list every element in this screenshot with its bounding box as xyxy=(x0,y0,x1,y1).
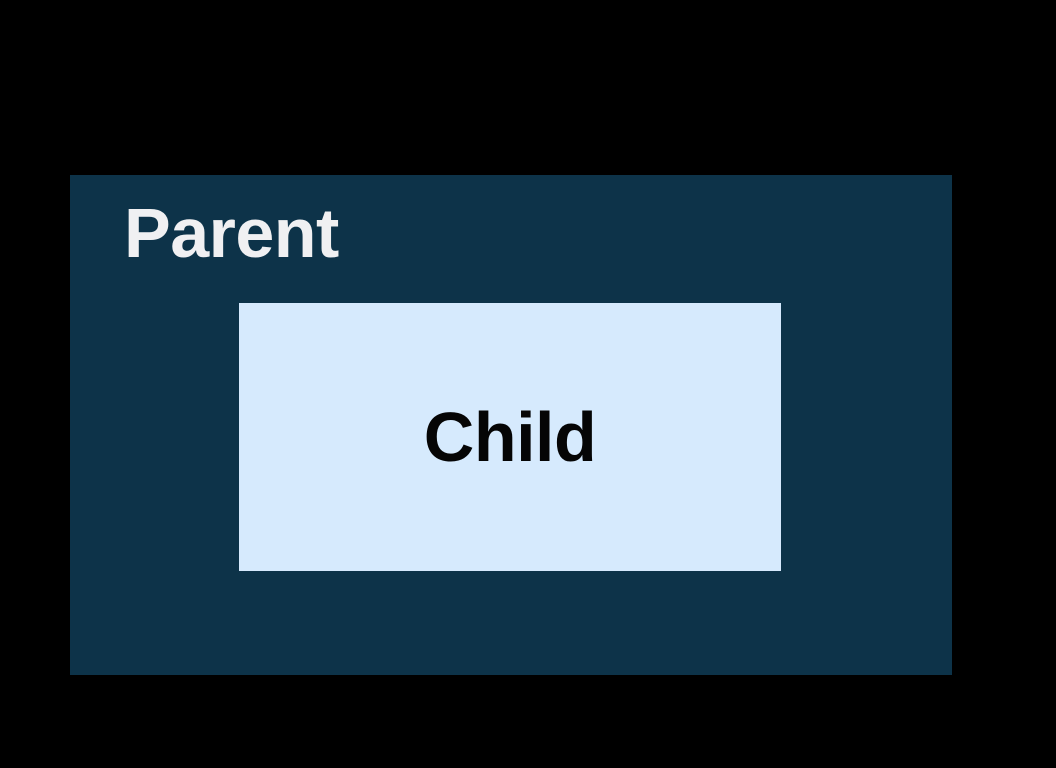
child-box-label: Child xyxy=(424,402,596,472)
parent-box-label: Parent xyxy=(124,198,339,268)
parent-box[interactable]: Parent Child xyxy=(70,175,952,675)
canvas-root: Parent Child xyxy=(0,0,1056,768)
child-box[interactable]: Child xyxy=(239,303,781,571)
